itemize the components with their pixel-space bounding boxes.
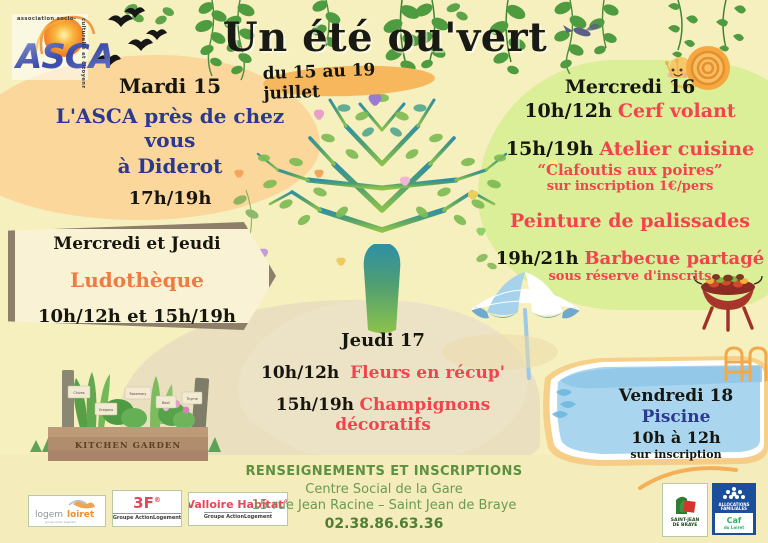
mardi-activity-line1: L'ASCA près de chez vous	[30, 104, 310, 152]
mercredi-activity-2: Atelier cuisine	[599, 138, 754, 160]
logo-caf-line3: Caf	[727, 517, 742, 525]
logo-caf-line4: du Loiret	[724, 525, 744, 530]
contact-heading: RENSEIGNEMENTS ET INSCRIPTIONS	[184, 464, 584, 479]
caf-star-mark	[717, 485, 751, 503]
event-ludotheque: Mercredi et Jeudi Ludothèque 10h/12h et …	[8, 222, 276, 330]
logo-caf-top: ALLOCATIONS FAMILIALES	[718, 503, 749, 512]
ludotheque-time: 10h/12h et 15h/19h	[22, 306, 252, 327]
asca-logo: ASCA association socio- culturelle et ci…	[6, 6, 110, 88]
jeudi-activity-2-line2: décoratifs	[243, 415, 523, 435]
event-vendredi-18: Vendredi 18 Piscine 10h à 12h sur inscri…	[586, 386, 766, 461]
logo-caf-line2: FAMILIALES	[718, 507, 749, 511]
mercredi-activity-2-note: sur inscription 1€/pers	[492, 179, 768, 194]
mercredi-slot-2: 15h/19h Atelier cuisine	[492, 138, 768, 160]
jeudi-time-1: 10h/12h	[261, 363, 339, 383]
contact-phone: 02.38.86.63.36	[184, 516, 584, 532]
logo-saint-jean-de-braye: SAINT-JEAN DE BRAYE	[662, 483, 708, 537]
svg-text:Oregano: Oregano	[99, 408, 114, 412]
asca-logo-graphic: ASCA association socio- culturelle et ci…	[6, 6, 110, 88]
svg-text:groupe action logement: groupe action logement	[45, 520, 76, 524]
asca-tagline-side: culturelle et citoyenne	[80, 18, 86, 88]
event-jeudi-17: Jeudi 17 10h/12h Fleurs en récup' 15h/19…	[243, 330, 523, 435]
mercredi-slot-1: 10h/12h Cerf volant	[492, 100, 768, 122]
contact-address: 15 rue Jean Racine – Saint Jean de Braye	[184, 498, 584, 513]
logo-3f: 3F® Groupe ActionLogement	[112, 490, 182, 527]
vendredi-note: sur inscription	[586, 448, 766, 461]
logo-3f-sub: Groupe ActionLogement	[113, 513, 181, 521]
jeudi-slot-1: 10h/12h Fleurs en récup'	[243, 363, 523, 383]
page-title: Un été ou'vert	[210, 14, 560, 61]
date-range-label: du 15 au 19 juillet	[262, 58, 435, 104]
logo-3f-sup: ®	[154, 496, 161, 504]
logo-3f-name: 3F®	[133, 496, 161, 511]
ludotheque-activity: Ludothèque	[22, 268, 252, 292]
hummingbird	[563, 24, 600, 38]
mercredi-activity-1: Cerf volant	[618, 100, 736, 122]
svg-text:Chives: Chives	[73, 391, 85, 395]
mercredi-activity-3: Peinture de palissades	[492, 210, 768, 232]
mercredi-time-4: 19h/21h	[496, 248, 579, 269]
asca-tagline-top: association socio-	[17, 16, 76, 22]
mercredi-time-2: 15h/19h	[506, 138, 593, 160]
svg-text:ASCA: ASCA	[13, 37, 110, 77]
mercredi-activity-4: Barbecue partagé	[584, 248, 764, 269]
logo-sjdb-text: SAINT-JEAN DE BRAYE	[671, 518, 699, 529]
contact-block: RENSEIGNEMENTS ET INSCRIPTIONS Centre So…	[184, 464, 584, 532]
ludotheque-day-label: Mercredi et Jeudi	[22, 234, 252, 254]
mardi-activity-line2: à Diderot	[30, 154, 310, 178]
contact-org: Centre Social de la Gare	[184, 482, 584, 497]
logo-caf: ALLOCATIONS FAMILIALES Caf du Loiret	[712, 483, 756, 535]
logemloiret-mark: logem loiret groupe action logement	[29, 496, 105, 526]
jeudi-activity-1: Fleurs en récup'	[350, 363, 505, 383]
ludotheque-text: Mercredi et Jeudi Ludothèque 10h/12h et …	[22, 234, 252, 327]
logo-3f-label: 3F	[133, 494, 154, 512]
jeudi-time-2: 15h/19h	[276, 395, 354, 415]
poster-canvas: Chives Oregano Rosemary Basil Thyme KITC…	[0, 0, 768, 543]
logo-sjdb-line2: DE BRAYE	[671, 523, 699, 528]
mardi-time-label: 17h/19h	[30, 188, 310, 209]
mercredi-day-label: Mercredi 16	[492, 76, 768, 98]
mercredi-slot-4: 19h/21h Barbecue partagé	[492, 248, 768, 269]
logo-logemloiret: logem loiret groupe action logement	[28, 495, 106, 527]
logemloiret-text-2: loiret	[67, 510, 95, 520]
logemloiret-text-1: logem	[35, 510, 63, 520]
jeudi-activity-2-line1: Champignons	[359, 395, 490, 415]
vendredi-activity: Piscine	[586, 407, 766, 427]
event-mercredi-16: Mercredi 16 10h/12h Cerf volant 15h/19h …	[492, 76, 768, 284]
vendredi-time: 10h à 12h	[586, 428, 766, 447]
saint-jean-de-braye-mark	[670, 492, 700, 518]
mercredi-activity-2-detail: “Clafoutis aux poires”	[492, 161, 768, 179]
date-range-pill: du 15 au 19 juillet	[263, 63, 436, 99]
jeudi-day-label: Jeudi 17	[243, 330, 523, 351]
mercredi-activity-4-note: sous réserve d'inscrits	[492, 269, 768, 284]
mercredi-time-1: 10h/12h	[524, 100, 611, 122]
vendredi-day-label: Vendredi 18	[586, 386, 766, 406]
logo-caf-bottom: Caf du Loiret	[715, 513, 753, 533]
jeudi-slot-2: 15h/19h Champignons	[243, 395, 523, 415]
